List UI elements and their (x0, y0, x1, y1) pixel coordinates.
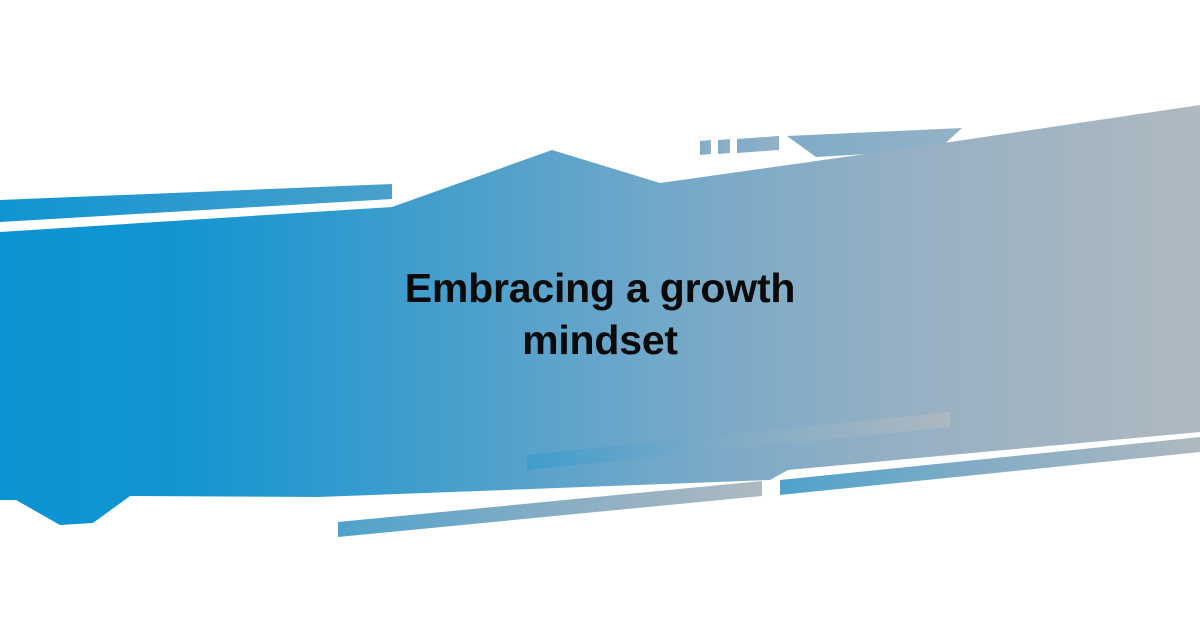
banner-card: Embracing a growth mindset (0, 0, 1200, 630)
decorative-banner-graphic (0, 0, 1200, 630)
top-right-dash-1 (700, 140, 711, 155)
top-right-dash-2 (718, 139, 730, 154)
top-right-dash-3 (737, 136, 779, 153)
